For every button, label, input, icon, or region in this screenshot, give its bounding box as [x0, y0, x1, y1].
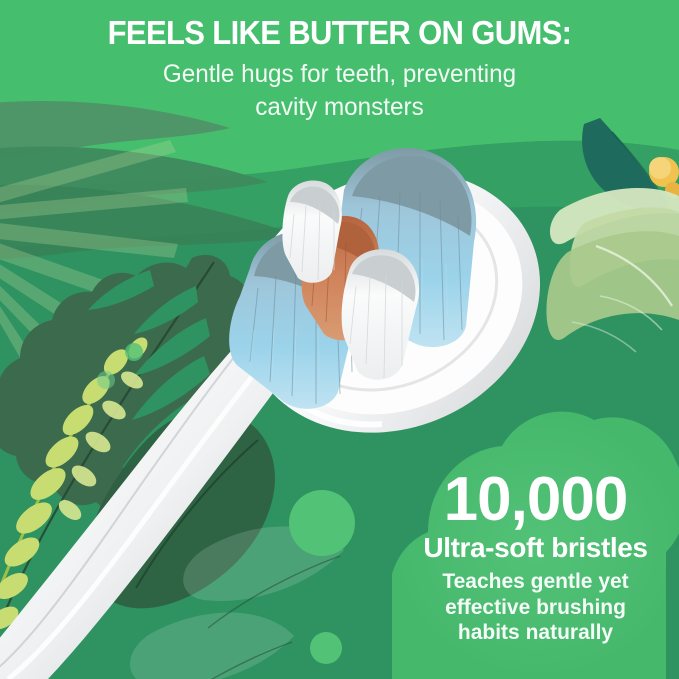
subheadline-line-2: cavity monsters — [68, 91, 610, 124]
stat-number: 10,000 — [392, 470, 679, 531]
stat-label: Ultra-soft bristles — [392, 533, 679, 562]
stat-description-line-3: habits naturally — [392, 620, 679, 646]
stat-callout: 10,000 Ultra-soft bristles Teaches gentl… — [392, 470, 679, 646]
stat-description-line-2: effective brushing — [392, 595, 679, 621]
stat-description: Teaches gentle yet effective brushing ha… — [392, 569, 679, 646]
headline: FEELS LIKE BUTTER ON GUMS: — [20, 16, 658, 50]
subheadline-line-1: Gentle hugs for teeth, preventing — [68, 58, 610, 91]
product-marketing-banner: FEELS LIKE BUTTER ON GUMS: Gentle hugs f… — [0, 0, 679, 679]
stat-description-line-1: Teaches gentle yet — [392, 569, 679, 595]
subheadline: Gentle hugs for teeth, preventing cavity… — [68, 58, 610, 124]
